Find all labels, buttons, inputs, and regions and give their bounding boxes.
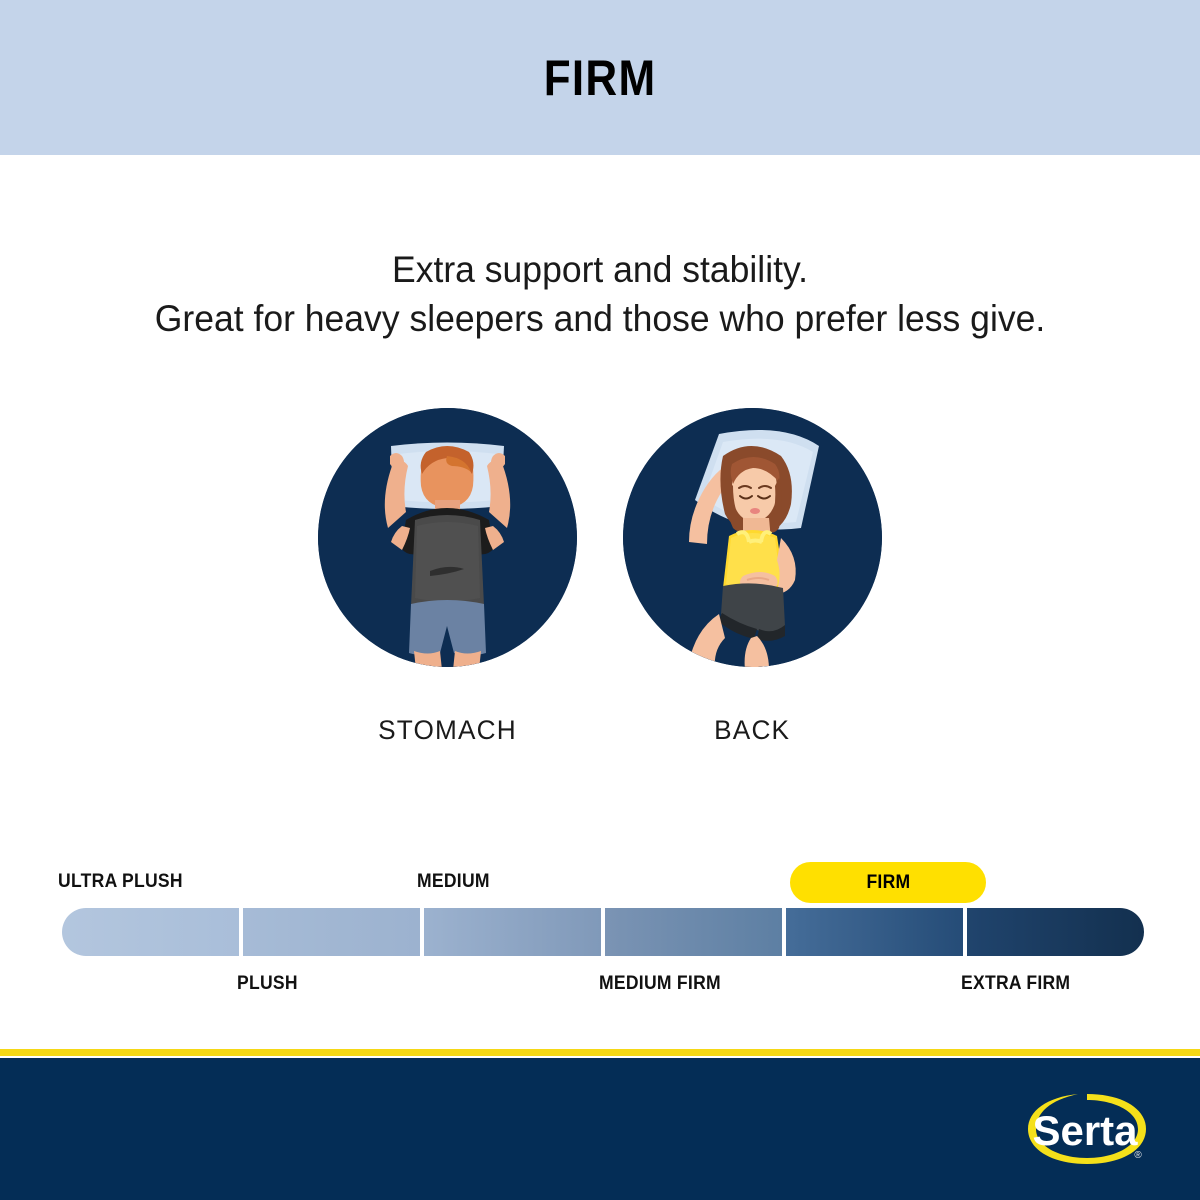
firmness-segment-medium[interactable] [424,908,601,956]
firmness-label-ultra-plush: ULTRA PLUSH [58,870,183,893]
firmness-label-firm-text: FIRM [866,871,910,894]
firmness-segment-ultra-plush[interactable] [62,908,239,956]
firmness-label-medium-firm: MEDIUM FIRM [599,972,721,995]
firmness-labels-top: ULTRA PLUSH MEDIUM FIRM [62,862,1144,908]
header-band: FIRM [0,0,1200,155]
subtitle-block: Extra support and stability. Great for h… [0,246,1200,344]
firmness-segment-plush[interactable] [243,908,420,956]
person-sleeping-on-back-icon [623,408,882,667]
firmness-label-plush: PLUSH [237,972,298,995]
firmness-label-medium: MEDIUM [417,870,490,893]
firmness-segment-medium-firm[interactable] [605,908,782,956]
serta-logo-text: Serta [1032,1107,1138,1154]
sleep-positions-group: STOMACH [0,408,1200,746]
firmness-label-extra-firm: EXTRA FIRM [961,972,1070,995]
firmness-scale: ULTRA PLUSH MEDIUM FIRM PLUSH MEDIUM FIR… [62,862,1144,1008]
firmness-segment-extra-firm[interactable] [967,908,1144,956]
sleep-position-stomach: STOMACH [315,408,580,746]
page-title: FIRM [544,53,657,103]
sleep-position-back: BACK [620,408,885,746]
footer-band [0,1058,1200,1200]
subtitle-line-2: Great for heavy sleepers and those who p… [24,295,1176,344]
person-sleeping-on-stomach-icon [318,408,577,667]
firmness-label-firm-highlighted: FIRM [790,862,986,903]
sleep-position-label: BACK [715,715,791,746]
footer-accent-rule [0,1049,1200,1056]
registered-mark-icon: ® [1134,1150,1142,1161]
firmness-segment-firm[interactable] [786,908,963,956]
firmness-bar [62,908,1144,956]
sleep-position-label: STOMACH [378,715,517,746]
firmness-labels-bottom: PLUSH MEDIUM FIRM EXTRA FIRM [62,968,1144,1008]
serta-logo[interactable]: Serta ® [1022,1088,1152,1172]
subtitle-line-1: Extra support and stability. [24,246,1176,295]
